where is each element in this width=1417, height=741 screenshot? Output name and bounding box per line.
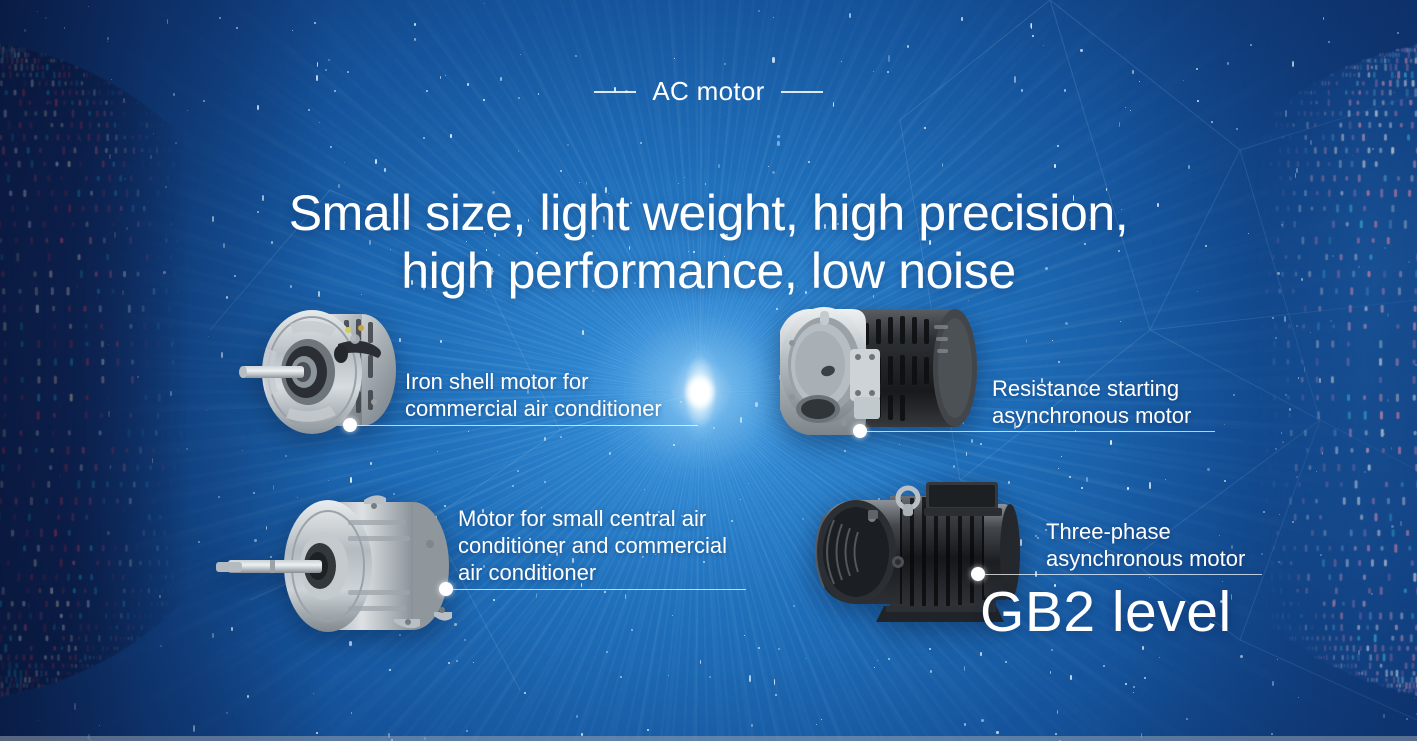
callout-central-ac-motor: Motor for small central air conditioner …: [458, 505, 727, 586]
callout-label: Iron shell motor for commercial air cond…: [405, 368, 662, 422]
central-ac-motor-photo: [198, 490, 483, 645]
callout-iron-shell-motor: Iron shell motor for commercial air cond…: [405, 368, 662, 422]
bottom-edge: [0, 736, 1417, 741]
eyebrow-dash-left-icon: [594, 91, 636, 93]
banner-stage: AC motor Small size, light weight, high …: [0, 0, 1417, 741]
globe-right: [1245, 0, 1417, 741]
resistance-starting-motor-photo: [762, 293, 987, 448]
callout-dot: [343, 418, 357, 432]
callout-label: Motor for small central air conditioner …: [458, 505, 727, 586]
eyebrow-dash-right-icon: [781, 91, 823, 93]
globe-left: [0, 0, 188, 741]
headline-line-2: high performance, low noise: [0, 242, 1417, 300]
callout-resistance-starting-motor: Resistance starting asynchronous motor: [992, 375, 1191, 429]
callout-three-phase-motor: Three-phase asynchronous motor: [1046, 518, 1245, 572]
callout-dot: [971, 567, 985, 581]
callout-rule: [860, 431, 1215, 432]
eyebrow: AC motor: [0, 76, 1417, 107]
callout-label: Resistance starting asynchronous motor: [992, 375, 1191, 429]
callout-rule: [978, 574, 1262, 575]
callout-dot: [439, 582, 453, 596]
gb2-level-badge: GB2 level: [980, 582, 1232, 642]
eyebrow-label: AC motor: [652, 76, 764, 107]
iron-shell-motor-photo: [228, 298, 418, 453]
callout-dot: [853, 424, 867, 438]
callout-rule: [350, 425, 698, 426]
page-title: Small size, light weight, high precision…: [0, 184, 1417, 300]
left-vignette: [0, 0, 330, 741]
headline-line-1: Small size, light weight, high precision…: [289, 185, 1129, 241]
callout-label: Three-phase asynchronous motor: [1046, 518, 1245, 572]
callout-rule: [446, 589, 746, 590]
